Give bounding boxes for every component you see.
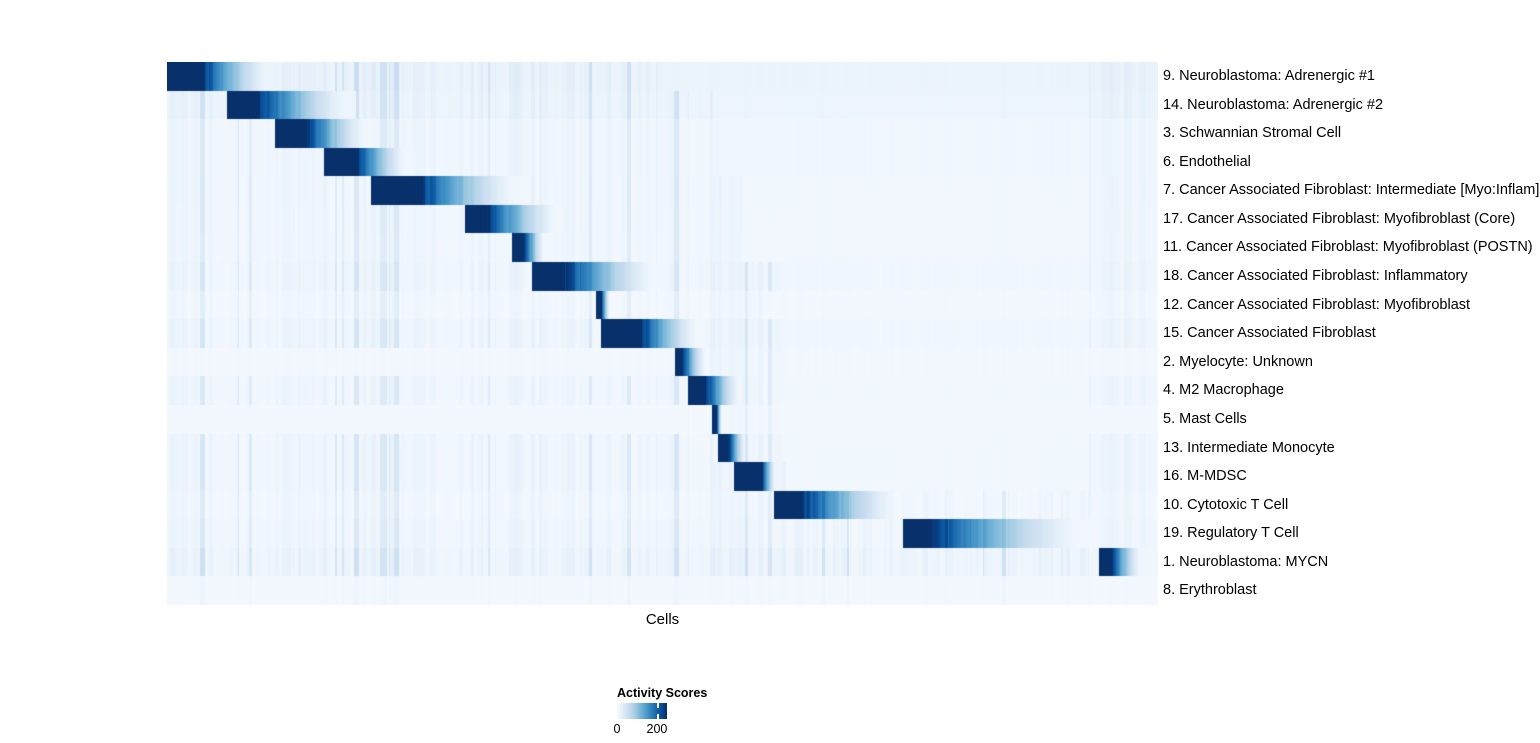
row-label: 11. Cancer Associated Fibroblast: Myofib… (1163, 233, 1533, 262)
heatmap-plot-area (167, 62, 1158, 605)
row-label: 19. Regulatory T Cell (1163, 519, 1299, 548)
colorbar-tick (657, 703, 659, 708)
row-label: 15. Cancer Associated Fibroblast (1163, 319, 1376, 348)
colorbar-gradient-wrap (617, 703, 667, 719)
row-label: 13. Intermediate Monocyte (1163, 434, 1335, 463)
row-label: 17. Cancer Associated Fibroblast: Myofib… (1163, 205, 1515, 234)
row-label: 6. Endothelial (1163, 148, 1251, 177)
colorbar-tick-label: 0 (614, 722, 621, 736)
row-label: 4. M2 Macrophage (1163, 376, 1284, 405)
row-label: 7. Cancer Associated Fibroblast: Interme… (1163, 176, 1539, 205)
row-label-list: 9. Neuroblastoma: Adrenergic #114. Neuro… (1163, 62, 1540, 605)
x-axis-title: Cells (167, 611, 1158, 628)
row-label: 3. Schwannian Stromal Cell (1163, 119, 1341, 148)
heatmap-figure: GEPs Cells 9. Neuroblastoma: Adrenergic … (0, 0, 1540, 743)
row-label: 1. Neuroblastoma: MYCN (1163, 548, 1328, 577)
colorbar-legend: Activity Scores 0200 (604, 686, 784, 741)
row-label: 12. Cancer Associated Fibroblast: Myofib… (1163, 291, 1470, 320)
colorbar-tick-label: 200 (647, 722, 668, 736)
row-label: 16. M-MDSC (1163, 462, 1247, 491)
row-label: 9. Neuroblastoma: Adrenergic #1 (1163, 62, 1375, 91)
row-label: 5. Mast Cells (1163, 405, 1247, 434)
colorbar-gradient (617, 703, 667, 719)
row-label: 14. Neuroblastoma: Adrenergic #2 (1163, 91, 1383, 120)
colorbar-tick (657, 714, 659, 719)
row-label: 18. Cancer Associated Fibroblast: Inflam… (1163, 262, 1468, 291)
legend-title: Activity Scores (617, 686, 707, 700)
row-label: 2. Myelocyte: Unknown (1163, 348, 1313, 377)
row-label: 10. Cytotoxic T Cell (1163, 491, 1288, 520)
row-label: 8. Erythroblast (1163, 576, 1257, 605)
heatmap-canvas (167, 62, 1158, 605)
colorbar-ticklabels: 0200 (604, 722, 724, 738)
